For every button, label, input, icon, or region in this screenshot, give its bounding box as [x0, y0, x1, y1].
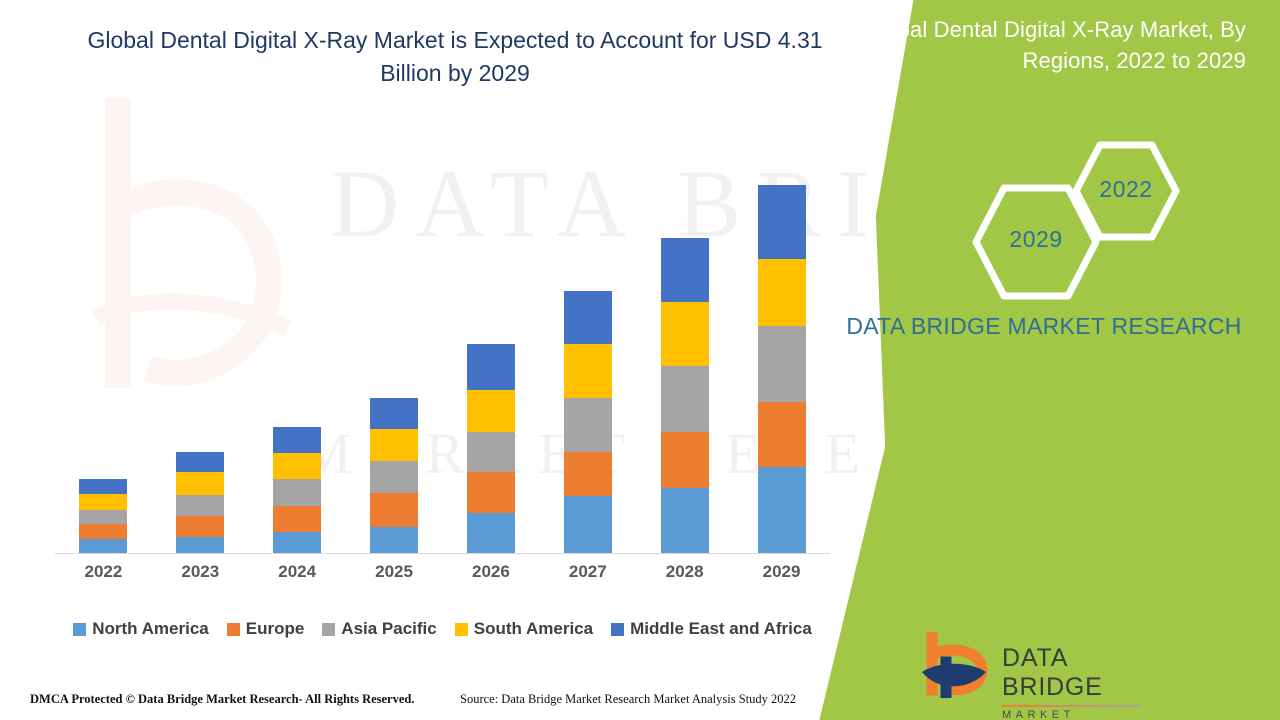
bar-segment-2028-middle-east-and-africa[interactable] — [661, 238, 709, 302]
bar-segment-2022-middle-east-and-africa[interactable] — [79, 479, 127, 494]
bar-segment-2025-europe[interactable] — [370, 493, 418, 527]
legend-item-europe[interactable]: Europe — [227, 619, 305, 639]
bar-segment-2025-middle-east-and-africa[interactable] — [370, 398, 418, 429]
bar-segment-2025-south-america[interactable] — [370, 429, 418, 461]
bar-segment-2027-europe[interactable] — [564, 452, 612, 496]
infographic-root: DATA BRIDGE MARKET RESEARCH Global Denta… — [0, 0, 1280, 720]
page-title: Global Dental Digital X-Ray Market is Ex… — [60, 24, 850, 89]
bar-2027[interactable] — [564, 291, 612, 553]
bar-segment-2022-asia-pacific[interactable] — [79, 510, 127, 524]
bar-segment-2029-south-america[interactable] — [758, 259, 806, 326]
bar-segment-2027-middle-east-and-africa[interactable] — [564, 291, 612, 344]
legend-swatch-icon — [455, 623, 468, 636]
bar-2028[interactable] — [661, 238, 709, 553]
legend-label: Middle East and Africa — [630, 619, 812, 639]
bar-2026[interactable] — [467, 344, 515, 553]
brand-name: DATA BRIDGE MARKET RESEARCH — [844, 310, 1244, 342]
bar-segment-2028-europe[interactable] — [661, 432, 709, 488]
x-label-2022: 2022 — [55, 562, 152, 588]
panel-title: Global Dental Digital X-Ray Market, By R… — [846, 14, 1246, 76]
bar-2029[interactable] — [758, 185, 806, 553]
bar-segment-2029-europe[interactable] — [758, 402, 806, 467]
legend-item-asia-pacific[interactable]: Asia Pacific — [322, 619, 436, 639]
hexagon-2022-label: 2022 — [1072, 176, 1180, 203]
chart-plot-area — [55, 170, 830, 554]
bar-segment-2026-europe[interactable] — [467, 472, 515, 513]
footer-source: Source: Data Bridge Market Research Mark… — [460, 692, 796, 707]
bar-segment-2026-south-america[interactable] — [467, 390, 515, 432]
bar-segment-2027-north-america[interactable] — [564, 496, 612, 553]
bar-segment-2024-middle-east-and-africa[interactable] — [273, 427, 321, 453]
bar-segment-2023-south-america[interactable] — [176, 472, 224, 495]
bar-segment-2023-europe[interactable] — [176, 516, 224, 537]
bar-segment-2024-south-america[interactable] — [273, 453, 321, 479]
data-bridge-logo: DATA BRIDGE MARKET RESEARCH — [920, 632, 1140, 708]
bar-segment-2024-asia-pacific[interactable] — [273, 479, 321, 506]
x-label-2026: 2026 — [443, 562, 540, 588]
logo-text-block: DATA BRIDGE MARKET RESEARCH — [1002, 644, 1140, 720]
bar-segment-2026-asia-pacific[interactable] — [467, 432, 515, 472]
legend-item-middle-east-and-africa[interactable]: Middle East and Africa — [611, 619, 812, 639]
bar-segment-2026-north-america[interactable] — [467, 513, 515, 553]
bar-segment-2023-asia-pacific[interactable] — [176, 495, 224, 516]
hexagon-2022: 2022 — [1072, 140, 1180, 242]
legend-label: Asia Pacific — [341, 619, 436, 639]
brand-panel — [810, 0, 1280, 720]
logo-divider — [1002, 705, 1140, 707]
bar-segment-2027-asia-pacific[interactable] — [564, 398, 612, 452]
x-label-2024: 2024 — [249, 562, 346, 588]
logo-subtitle: MARKET RESEARCH — [1002, 709, 1140, 720]
bar-segment-2025-asia-pacific[interactable] — [370, 461, 418, 493]
x-label-2025: 2025 — [346, 562, 443, 588]
legend-label: North America — [92, 619, 209, 639]
bar-2024[interactable] — [273, 427, 321, 553]
bar-2023[interactable] — [176, 452, 224, 553]
hexagon-group: 2029 2022 — [962, 140, 1202, 305]
bar-segment-2023-north-america[interactable] — [176, 537, 224, 553]
bar-segment-2026-middle-east-and-africa[interactable] — [467, 344, 515, 390]
bar-segment-2022-south-america[interactable] — [79, 494, 127, 510]
bar-segment-2029-middle-east-and-africa[interactable] — [758, 185, 806, 259]
x-label-2023: 2023 — [152, 562, 249, 588]
x-axis-line — [55, 553, 830, 554]
legend-swatch-icon — [73, 623, 86, 636]
logo-title: DATA BRIDGE — [1002, 644, 1140, 702]
chart-legend: North AmericaEuropeAsia PacificSouth Ame… — [55, 616, 830, 642]
bar-segment-2022-europe[interactable] — [79, 524, 127, 539]
footer: DMCA Protected © Data Bridge Market Rese… — [0, 684, 860, 720]
legend-item-south-america[interactable]: South America — [455, 619, 593, 639]
bar-2025[interactable] — [370, 398, 418, 553]
legend-swatch-icon — [322, 623, 335, 636]
bar-segment-2028-north-america[interactable] — [661, 488, 709, 553]
bar-segment-2029-north-america[interactable] — [758, 467, 806, 553]
x-label-2029: 2029 — [733, 562, 830, 588]
bar-group — [55, 170, 830, 553]
bar-segment-2028-asia-pacific[interactable] — [661, 366, 709, 432]
logo-mark-icon — [920, 632, 1000, 698]
legend-label: Europe — [246, 619, 305, 639]
bar-segment-2025-north-america[interactable] — [370, 527, 418, 553]
bar-segment-2027-south-america[interactable] — [564, 344, 612, 398]
bar-segment-2024-north-america[interactable] — [273, 532, 321, 553]
bar-segment-2022-north-america[interactable] — [79, 539, 127, 553]
legend-swatch-icon — [227, 623, 240, 636]
bar-segment-2024-europe[interactable] — [273, 506, 321, 532]
bar-segment-2028-south-america[interactable] — [661, 302, 709, 366]
x-axis-labels: 20222023202420252026202720282029 — [55, 562, 830, 588]
x-label-2027: 2027 — [539, 562, 636, 588]
bar-segment-2023-middle-east-and-africa[interactable] — [176, 452, 224, 472]
legend-label: South America — [474, 619, 593, 639]
legend-swatch-icon — [611, 623, 624, 636]
legend-item-north-america[interactable]: North America — [73, 619, 209, 639]
x-label-2028: 2028 — [636, 562, 733, 588]
footer-copyright: DMCA Protected © Data Bridge Market Rese… — [30, 692, 415, 707]
bar-segment-2029-asia-pacific[interactable] — [758, 326, 806, 402]
bar-2022[interactable] — [79, 479, 127, 553]
